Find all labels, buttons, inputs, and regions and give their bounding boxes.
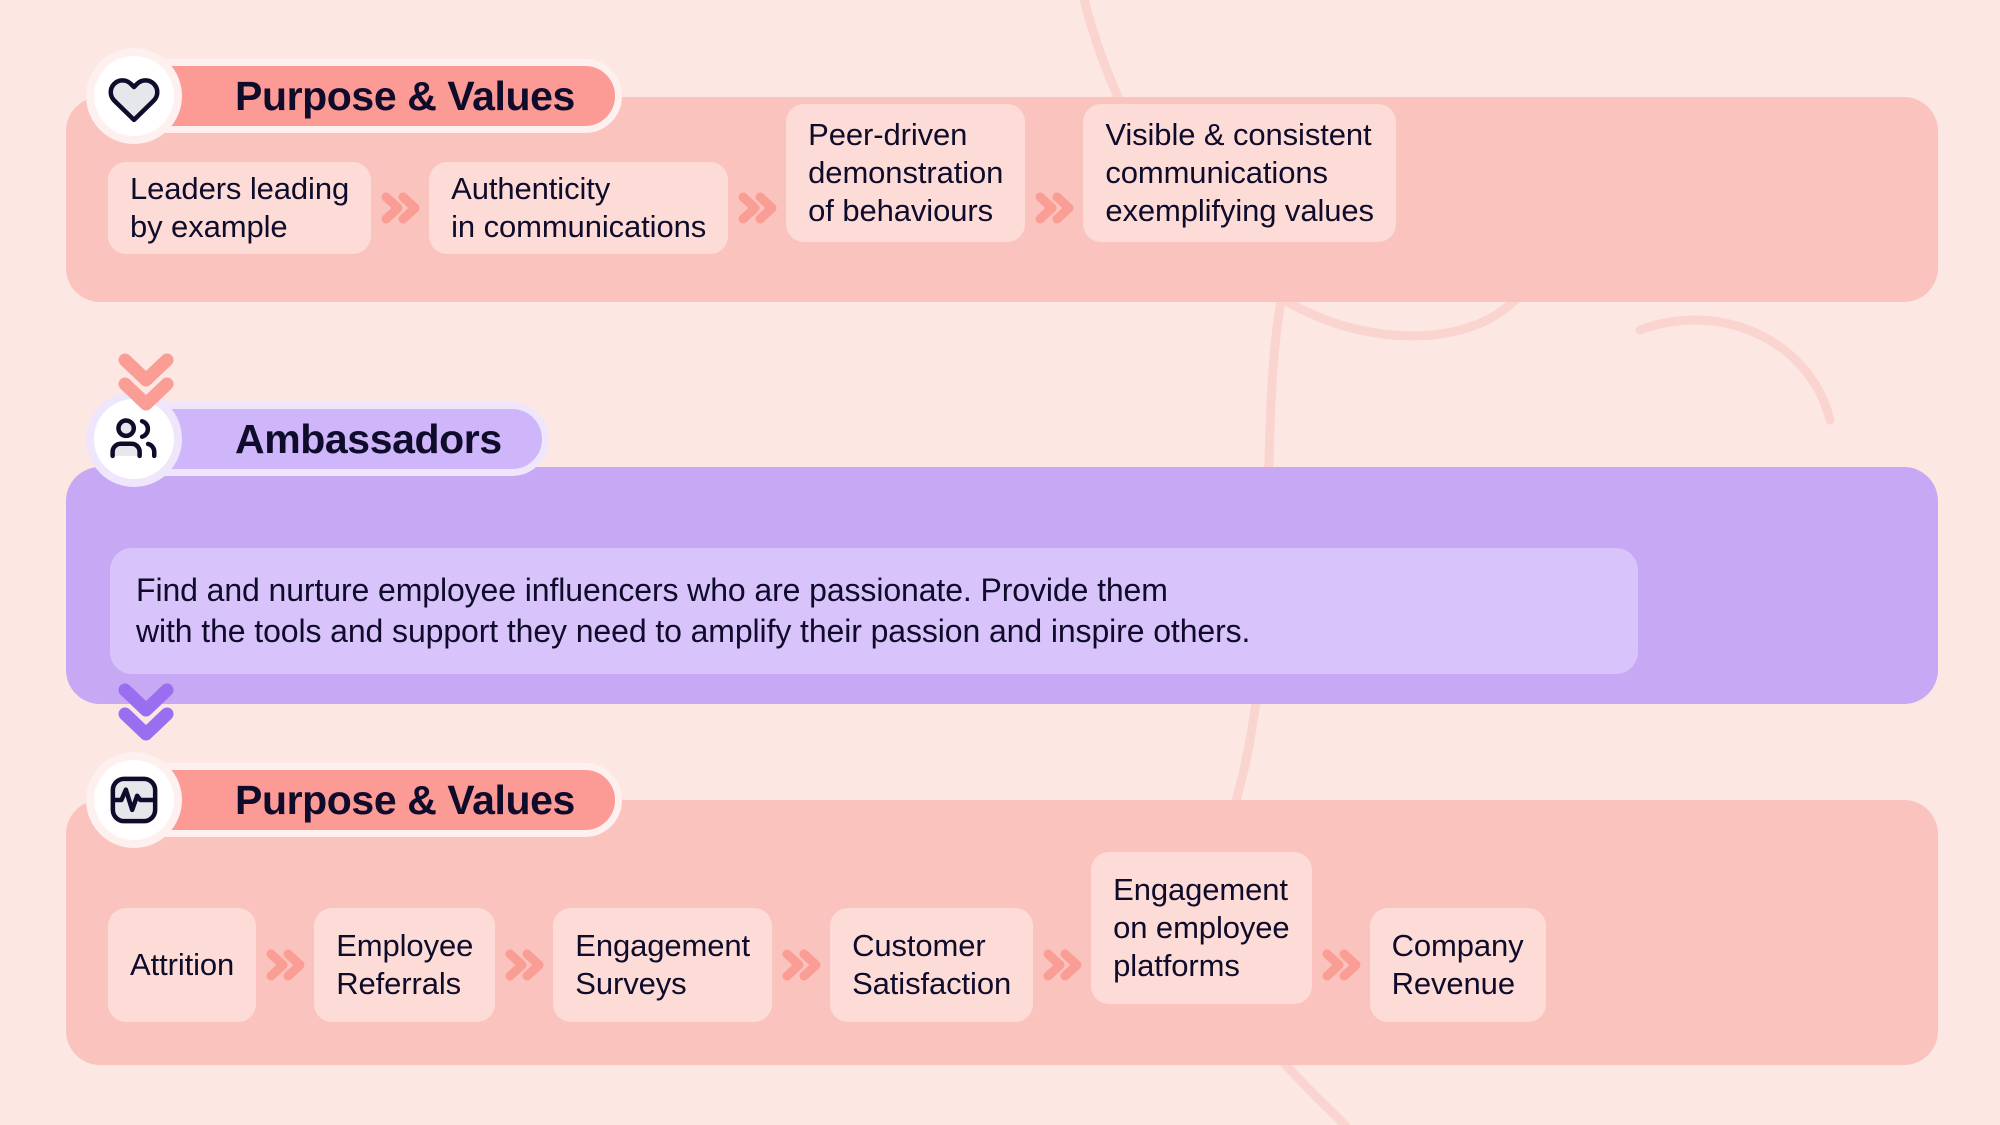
double-chevron-right-icon xyxy=(1025,188,1083,228)
infographic-canvas: Purpose & Values Leaders leading by exam… xyxy=(0,0,2000,1125)
ambassadors-description-card[interactable]: Find and nurture employee influencers wh… xyxy=(110,548,1638,674)
chip-item[interactable]: Engagement on employee platforms xyxy=(1091,852,1311,1004)
heart-icon xyxy=(86,48,182,144)
section-purpose-values-top-header: Purpose & Values xyxy=(86,59,622,133)
chips-row-purpose-values-top: Leaders leading by example Authenticity … xyxy=(108,135,1908,280)
chip-item[interactable]: Customer Satisfaction xyxy=(830,908,1033,1022)
double-chevron-right-icon xyxy=(1312,945,1370,985)
chip-item[interactable]: Authenticity in communications xyxy=(429,162,728,254)
chip-item[interactable]: Leaders leading by example xyxy=(108,162,371,254)
section-ambassadors-pill[interactable]: Ambassadors xyxy=(120,402,549,476)
section-title: Ambassadors xyxy=(235,416,502,463)
chips-row-purpose-values-bottom: Attrition Employee Referrals Engagement … xyxy=(108,890,1918,1040)
connector-down-2 xyxy=(115,680,177,749)
section-purpose-values-bottom-header: Purpose & Values xyxy=(86,763,622,837)
section-purpose-values-top-pill[interactable]: Purpose & Values xyxy=(120,59,622,133)
section-purpose-values-bottom-pill[interactable]: Purpose & Values xyxy=(120,763,622,837)
chip-item[interactable]: Visible & consistent communications exem… xyxy=(1083,104,1396,242)
double-chevron-right-icon xyxy=(371,188,429,228)
double-chevron-right-icon xyxy=(256,945,314,985)
activity-pulse-icon xyxy=(86,752,182,848)
chip-item[interactable]: Company Revenue xyxy=(1370,908,1546,1022)
chip-item[interactable]: Engagement Surveys xyxy=(553,908,772,1022)
double-chevron-right-icon xyxy=(1033,945,1091,985)
chip-item[interactable]: Employee Referrals xyxy=(314,908,495,1022)
section-title: Purpose & Values xyxy=(235,73,575,120)
section-title: Purpose & Values xyxy=(235,777,575,824)
double-chevron-right-icon xyxy=(728,188,786,228)
chip-item[interactable]: Peer-driven demonstration of behaviours xyxy=(786,104,1025,242)
double-chevron-right-icon xyxy=(772,945,830,985)
connector-down-1 xyxy=(115,350,177,419)
double-chevron-right-icon xyxy=(495,945,553,985)
chip-item[interactable]: Attrition xyxy=(108,908,256,1022)
